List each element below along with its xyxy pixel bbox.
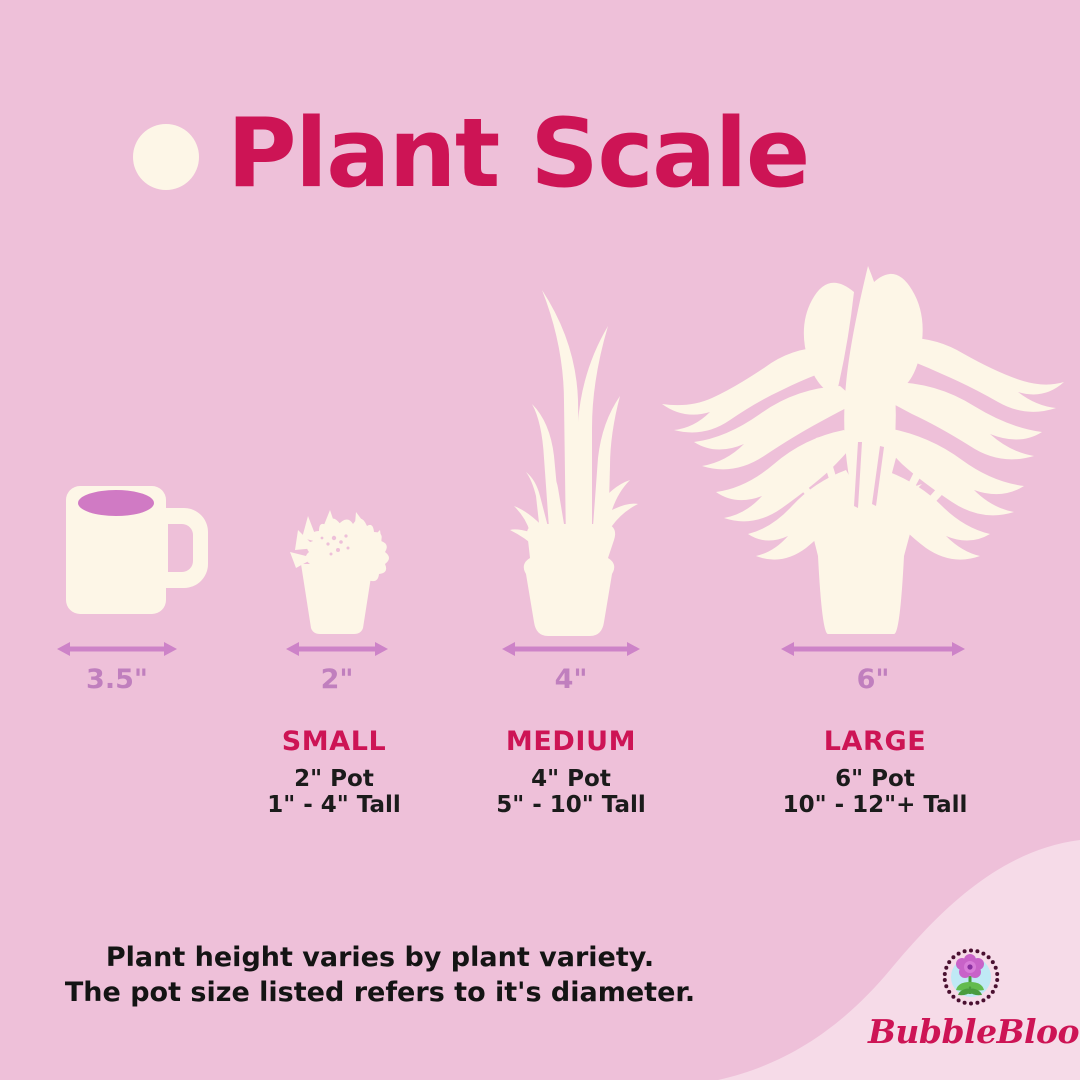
small-potted-plant-art [284, 508, 390, 634]
caption-medium: MEDIUM 4" Pot 5" - 10" Tall [451, 726, 691, 818]
dimension-arrow-mug: 3.5" [56, 640, 178, 658]
cream-circle-icon [133, 124, 199, 190]
plant-height-medium: 5" - 10" Tall [451, 792, 691, 818]
title-text: Plant Scale [227, 107, 809, 202]
dimension-arrow-large: 6" [780, 640, 966, 658]
plant-height-large: 10" - 12"+ Tall [755, 792, 995, 818]
dimension-arrow-small: 2" [285, 640, 389, 658]
coffee-mug-art [52, 480, 212, 630]
size-label-medium: MEDIUM [451, 726, 691, 757]
bushy-foliage-plant-art [658, 256, 1064, 638]
dimension-label-mug: 3.5" [56, 664, 178, 695]
size-label-large: LARGE [755, 726, 995, 757]
plant-height-small: 1" - 4" Tall [214, 792, 454, 818]
snake-plant-art [492, 282, 648, 638]
dimension-label-small: 2" [285, 664, 389, 695]
footnote-line-1: Plant height varies by plant variety. [60, 940, 700, 975]
infographic-canvas: Plant Scale 3.5" [0, 0, 1080, 1080]
flower-badge-icon [940, 946, 1002, 1008]
caption-large: LARGE 6" Pot 10" - 12"+ Tall [755, 726, 995, 818]
dimension-label-large: 6" [780, 664, 966, 695]
footnote-line-2: The pot size listed refers to it's diame… [60, 975, 700, 1010]
brand-name: BubbleBlooms [868, 1012, 1073, 1051]
pot-size-medium: 4" Pot [451, 766, 691, 792]
footnote: Plant height varies by plant variety. Th… [60, 940, 700, 1010]
page-title: Plant Scale [133, 100, 809, 208]
size-label-small: SMALL [214, 726, 454, 757]
caption-small: SMALL 2" Pot 1" - 4" Tall [214, 726, 454, 818]
brand-logo: BubbleBlooms [868, 946, 1073, 1051]
dimension-label-medium: 4" [501, 664, 641, 695]
dimension-arrow-medium: 4" [501, 640, 641, 658]
pot-size-small: 2" Pot [214, 766, 454, 792]
pot-size-large: 6" Pot [755, 766, 995, 792]
